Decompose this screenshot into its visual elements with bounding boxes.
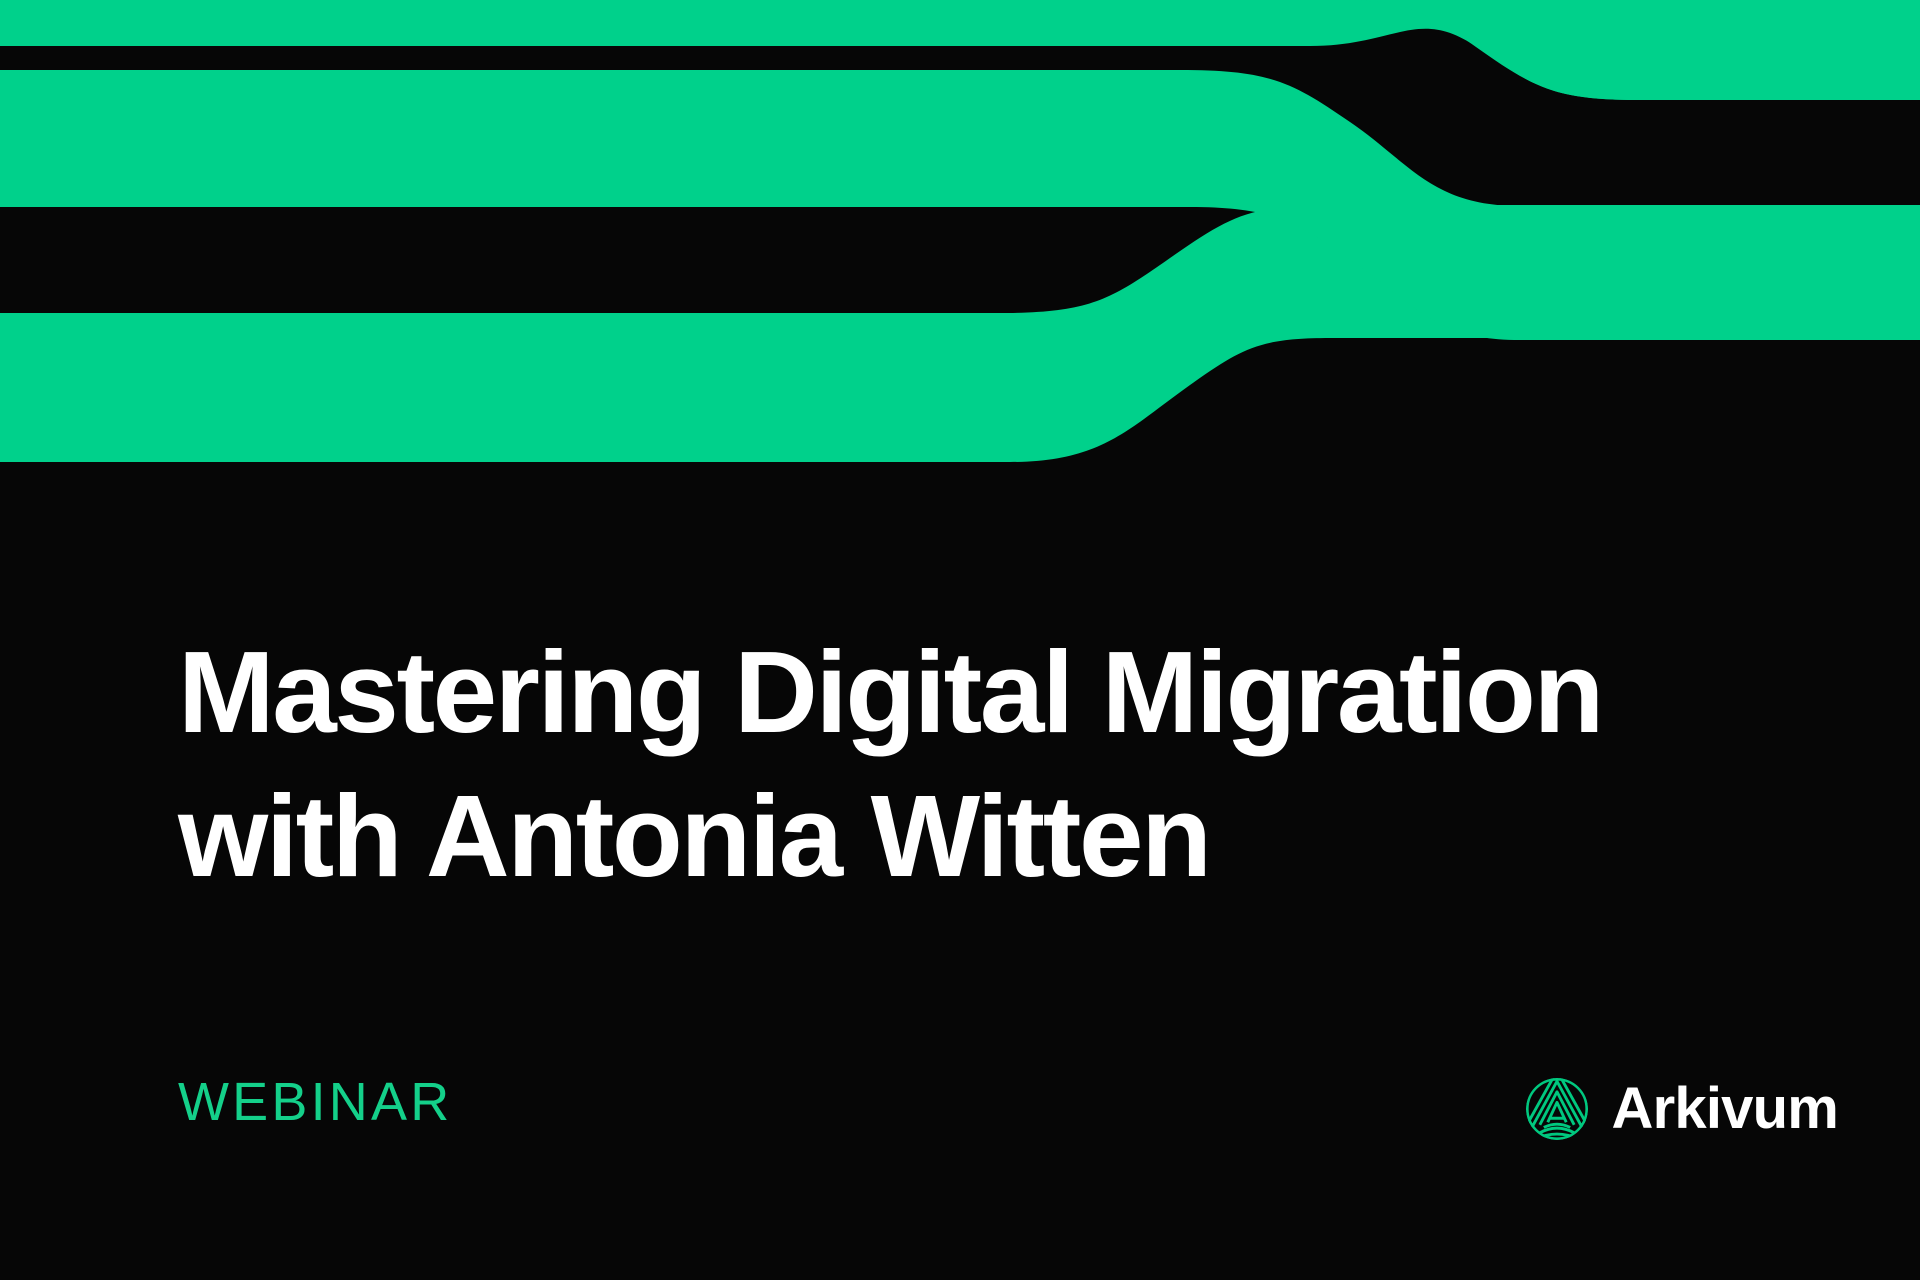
flowing-stripes-graphic <box>0 0 1920 480</box>
brand-logo-lockup: Arkivum <box>1524 1076 1839 1142</box>
footer-bar: WEBINAR <box>0 1060 1920 1170</box>
webinar-promo-card: Mastering Digital Migration with Antonia… <box>0 0 1920 1280</box>
page-title: Mastering Digital Migration with Antonia… <box>178 620 1818 908</box>
title-line-1: Mastering Digital Migration <box>178 620 1818 764</box>
title-line-2: with Antonia Witten <box>178 764 1818 908</box>
arkivum-fingerprint-icon <box>1524 1076 1590 1142</box>
brand-name-text: Arkivum <box>1612 1076 1839 1142</box>
content-type-label: WEBINAR <box>178 1070 452 1134</box>
